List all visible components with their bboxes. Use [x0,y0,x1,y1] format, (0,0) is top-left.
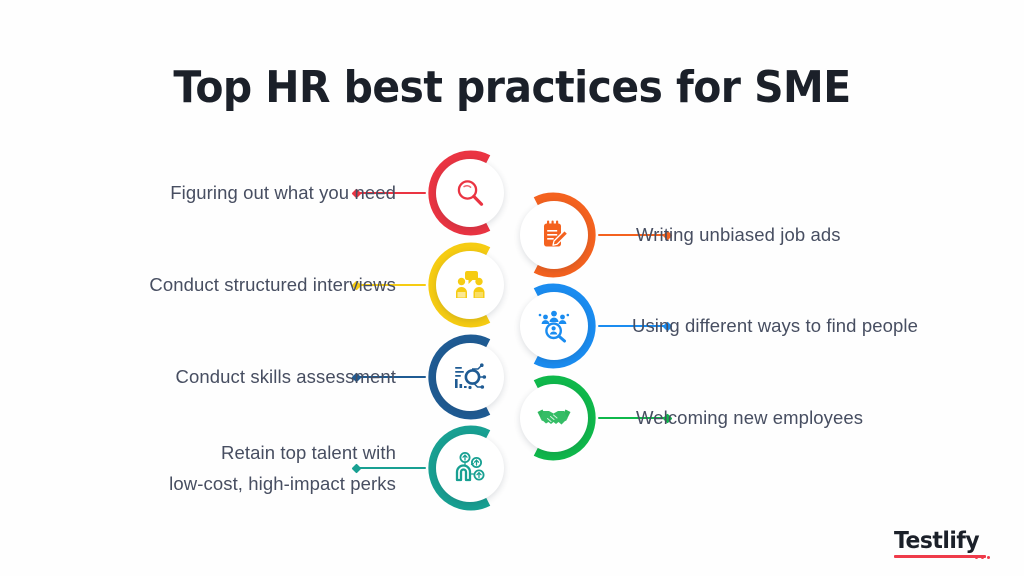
testlify-logo[interactable]: Testlify [894,529,998,559]
label-figuring-out-what-you-need: Figuring out what you need [76,180,396,206]
icon-ring [510,282,598,370]
label-conduct-structured-interviews: Conduct structured interviews [56,272,396,298]
label-using-different-ways-to-find-people: Using different ways to find people [632,313,992,339]
icon-ring [426,424,514,512]
label-conduct-skills-assessment: Conduct skills assessment [76,364,396,390]
label-retain-top-talent: Retain top talent with low-cost, high-im… [66,437,396,499]
icon-ring [510,374,598,462]
icon-ring [426,333,514,421]
skills-network-icon [436,343,504,411]
people-search-icon [520,292,588,360]
icon-ring [426,149,514,237]
icon-ring [426,241,514,329]
magnifier-icon [436,159,504,227]
logo-wordmark: Testlify [894,529,993,554]
logo-dots [975,556,990,559]
interview-people-icon [436,251,504,319]
label-welcoming-new-employees: Welcoming new employees [636,405,976,431]
logo-underline [894,555,986,559]
icon-ring [510,191,598,279]
infographic-canvas: Top HR best practices for SME Figuring o… [0,0,1024,576]
handshake-icon [520,384,588,452]
label-writing-unbiased-job-ads: Writing unbiased job ads [636,222,976,248]
magnet-talent-icon [436,434,504,502]
page-title: Top HR best practices for SME [36,62,988,113]
notepad-pen-icon [520,201,588,269]
